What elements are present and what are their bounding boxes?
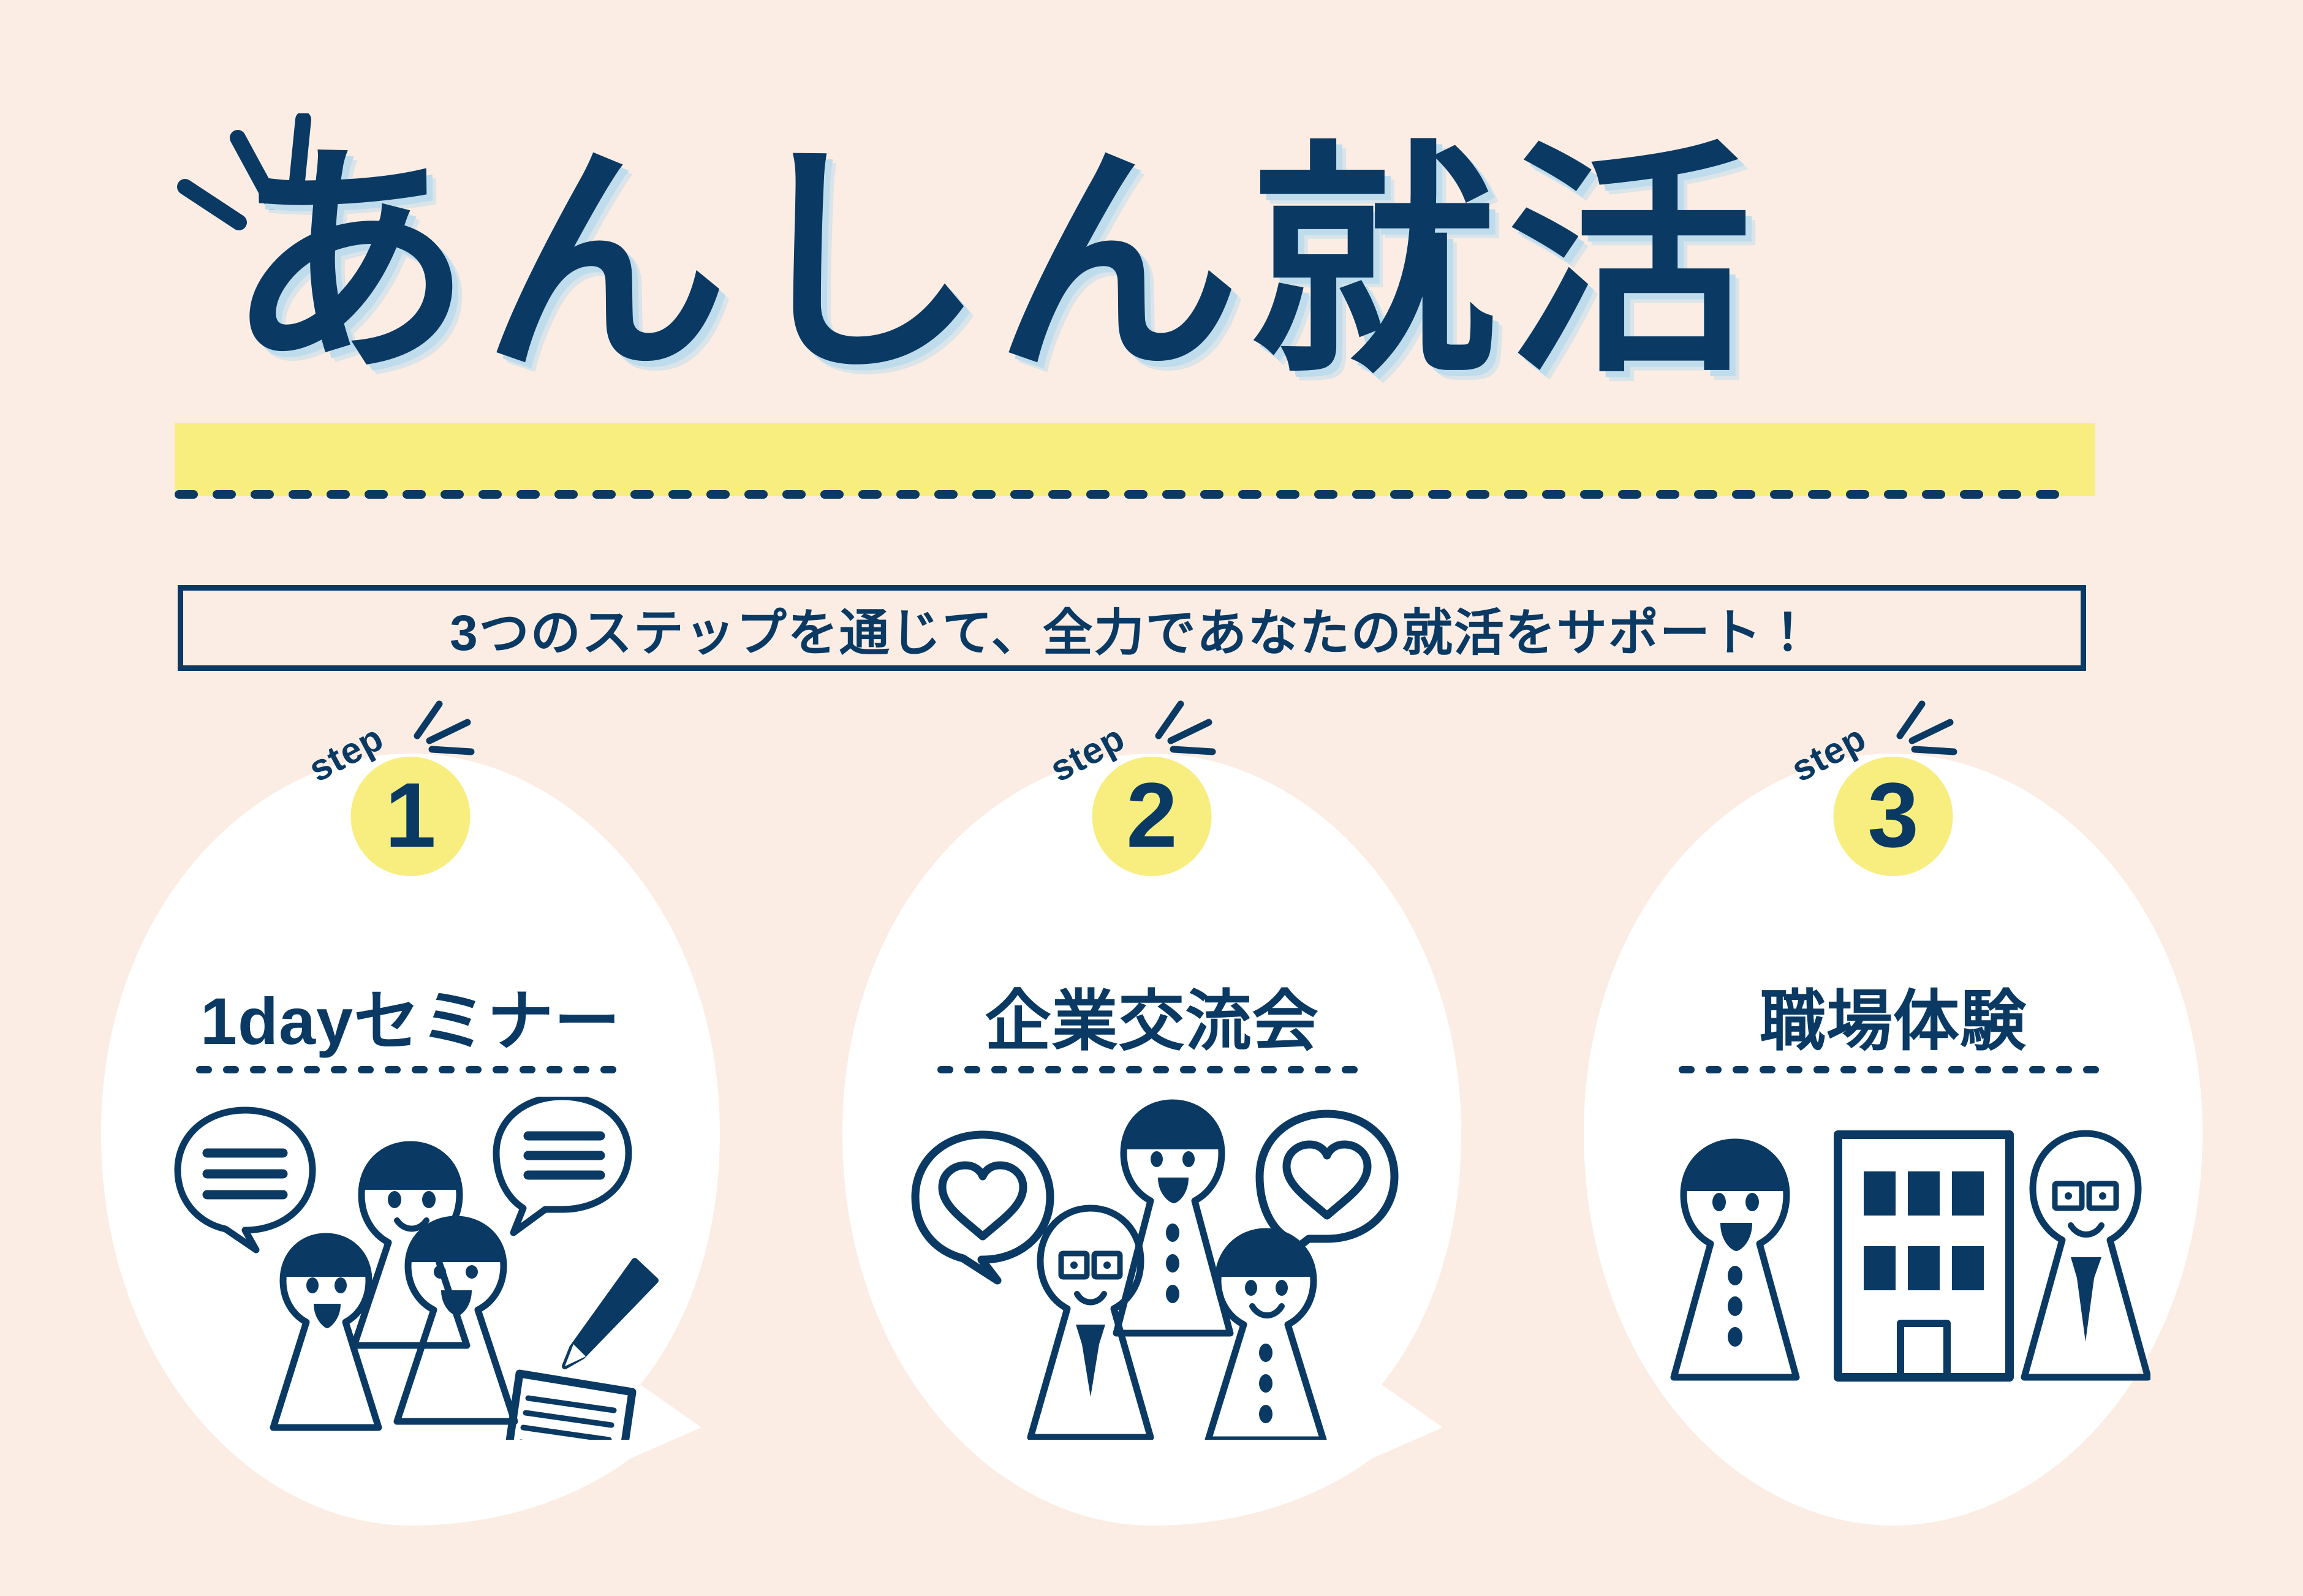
step-divider-2 [937,1066,1366,1073]
page-title: あんしん就活 [227,141,1763,386]
step-number-1: 1 [385,769,436,861]
step-number-circle-3: 3 [1834,757,1953,876]
steps-row: step 1 1dayセミナー [0,754,2303,1550]
step-number-circle-2: 2 [1092,757,1212,876]
workplace-illustration [1636,1097,2150,1440]
networking-illustration [894,1097,1409,1440]
step-card-2[interactable]: step 2 企業交流会 [842,754,1461,1526]
step-badge-3: step 3 [1761,689,2025,891]
step-sparkle-icon-2 [1149,700,1228,774]
step-divider-1 [196,1066,625,1073]
step-title-3: 職場体験 [1584,968,2203,1064]
step-sparkle-icon-3 [1890,700,1970,774]
step-card-3[interactable]: step 3 職場体験 [1584,754,2203,1526]
seminar-illustration [153,1097,668,1440]
subtitle-box: 3つのステップを通じて、全力であなたの就活をサポート！ [178,585,2086,671]
header-dashed-rule [175,490,2095,499]
step-title-1: 1dayセミナー [101,968,720,1064]
step-number-circle-1: 1 [351,757,471,876]
step-sparkle-icon-1 [407,700,487,774]
poster-stage: あんしん就活 3つのステップを通じて、全力であなたの就活をサポート！ step [0,0,2303,1596]
step-badge-1: step 1 [279,689,542,891]
step-number-3: 3 [1867,769,1918,861]
step-badge-2: step 2 [1020,689,1284,891]
step-number-2: 2 [1126,769,1177,861]
headline-highlight-bar [175,423,2095,496]
subtitle-text: 3つのステップを通じて、全力であなたの就活をサポート！ [450,592,1814,665]
step-divider-3 [1679,1066,2108,1073]
step-title-2: 企業交流会 [842,968,1461,1064]
step-card-1[interactable]: step 1 1dayセミナー [101,754,720,1526]
